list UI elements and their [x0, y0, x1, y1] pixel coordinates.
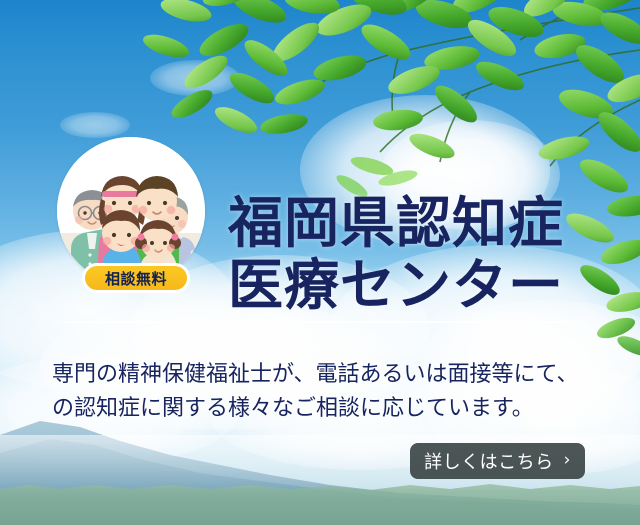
- chevron-right-icon: ›: [564, 452, 571, 469]
- description-text: 専門の精神保健福祉士が、電話あるいは面接等にて、の認知症に関する様々なご相談に応…: [52, 358, 592, 426]
- page-title-line-1: 福岡県認知症: [228, 192, 628, 254]
- free-consultation-badge: 相談無料: [82, 263, 190, 293]
- page-title-line-2: 医療センター: [228, 254, 628, 316]
- details-button-label: 詳しくはこちら: [424, 448, 554, 474]
- hero-banner: 相談無料 福岡県認知症 医療センター 専門の精神保健福祉士が、電話あるいは面接等…: [0, 0, 640, 525]
- page-title: 福岡県認知症 医療センター: [228, 192, 628, 316]
- details-button[interactable]: 詳しくはこちら ›: [410, 443, 585, 479]
- divider: [55, 321, 590, 323]
